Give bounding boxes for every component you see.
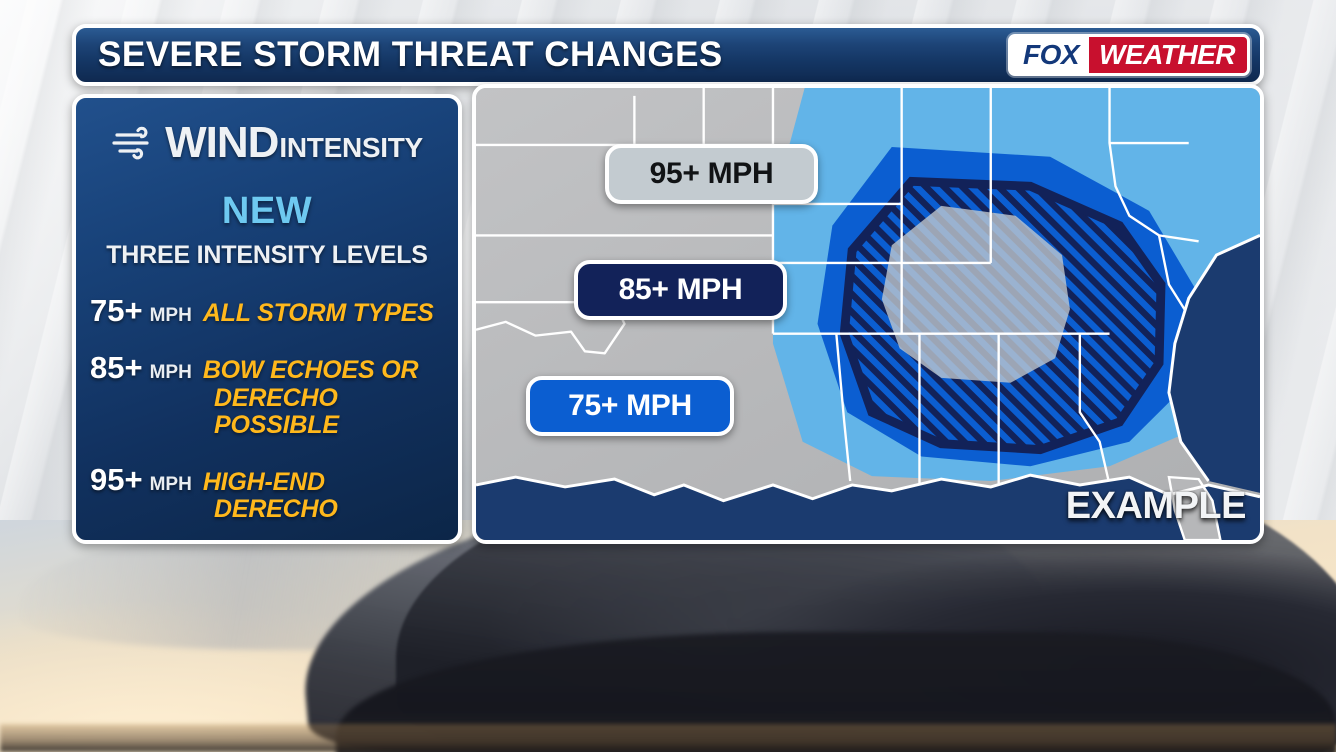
level-speed: 85+ [90, 351, 143, 384]
intensity-level-row: 85+ MPH BOW ECHOES OR DERECHO POSSIBLE [90, 351, 444, 438]
wind-intensity-panel: WIND INTENSITY NEW THREE INTENSITY LEVEL… [72, 94, 462, 544]
new-badge: NEW [90, 190, 444, 233]
callout-75-mph[interactable]: 75+ MPH [526, 376, 734, 436]
threat-map[interactable]: 95+ MPH 85+ MPH 75+ MPH EXAMPLE [472, 84, 1264, 544]
callout-95-label: 95+ MPH [650, 157, 774, 191]
storm-photo [0, 520, 1336, 752]
level-description: ALL STORM TYPES [203, 300, 434, 327]
panel-subtitle: THREE INTENSITY LEVELS [90, 241, 444, 270]
example-watermark: EXAMPLE [1066, 485, 1246, 528]
level-speed: 75+ [90, 294, 143, 327]
level-description: BOW ECHOES OR [203, 357, 418, 384]
graphic-stage: SEVERE STORM THREAT CHANGES FOX WEATHER … [0, 0, 1336, 752]
level-description-line2: DERECHO [90, 496, 444, 523]
photo-horizon [0, 724, 1336, 752]
level-unit: MPH [150, 475, 192, 496]
level-unit: MPH [150, 306, 192, 327]
intensity-level-row: 75+ MPH ALL STORM TYPES [90, 294, 444, 327]
wind-icon [111, 124, 157, 162]
level-unit: MPH [150, 363, 192, 384]
header-bar: SEVERE STORM THREAT CHANGES FOX WEATHER [72, 24, 1264, 86]
level-speed: 95+ [90, 463, 143, 496]
logo-fox-text: FOX [1011, 37, 1089, 73]
level-description-line2: DERECHO POSSIBLE [90, 385, 444, 439]
intensity-level-row: 95+ MPH HIGH-END DERECHO [90, 463, 444, 523]
level-description: HIGH-END [203, 469, 325, 496]
wind-label: WIND [165, 118, 278, 168]
intensity-label: INTENSITY [279, 132, 423, 164]
fox-weather-logo: FOX WEATHER [1008, 34, 1250, 76]
callout-95-mph[interactable]: 95+ MPH [605, 144, 818, 204]
wind-heading: WIND INTENSITY [90, 118, 444, 168]
callout-85-label: 85+ MPH [619, 273, 743, 307]
callout-75-label: 75+ MPH [568, 389, 692, 423]
logo-weather-text: WEATHER [1089, 37, 1247, 73]
callout-85-mph[interactable]: 85+ MPH [574, 260, 787, 320]
page-title: SEVERE STORM THREAT CHANGES [98, 35, 723, 75]
